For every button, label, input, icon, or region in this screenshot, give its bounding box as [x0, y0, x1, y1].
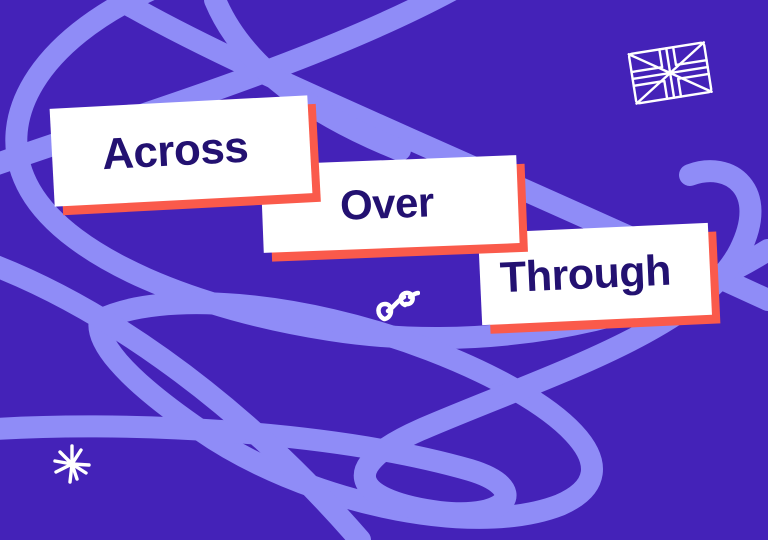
- card-label-through: Through: [479, 249, 672, 301]
- sparkle-burst-icon: [48, 440, 96, 488]
- squiggle-doodle-icon: [372, 285, 420, 325]
- card-label-across: Across: [51, 126, 249, 180]
- union-jack-flag-icon: [622, 30, 718, 114]
- poster-canvas: Across Over Through: [0, 0, 768, 540]
- word-card-across[interactable]: Across: [50, 95, 313, 206]
- card-face-across: Across: [50, 95, 313, 206]
